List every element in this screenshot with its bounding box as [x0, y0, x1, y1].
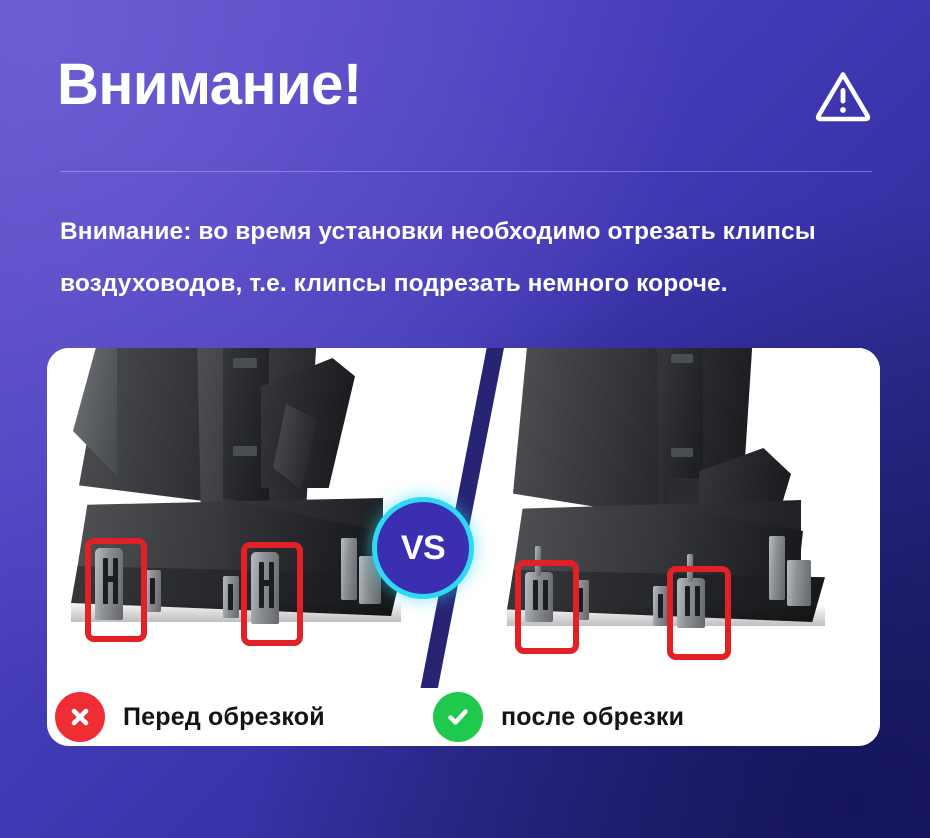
header: Внимание! — [0, 0, 930, 172]
after-photo — [477, 348, 880, 688]
highlight-box — [85, 538, 147, 642]
before-caption: Перед обрезкой — [55, 688, 325, 746]
vs-label: VS — [401, 531, 445, 565]
vs-badge: VS — [377, 502, 469, 594]
warning-paragraph: Внимание: во время установки необходимо … — [60, 206, 880, 310]
before-caption-label: Перед обрезкой — [123, 703, 325, 732]
cross-icon — [55, 692, 105, 742]
after-photo-pane — [477, 348, 880, 688]
warning-triangle-icon — [814, 68, 872, 122]
page-title: Внимание! — [57, 52, 362, 118]
after-caption-label: после обрезки — [501, 703, 684, 732]
highlight-box — [241, 542, 303, 646]
highlight-box — [515, 560, 579, 654]
after-caption: после обрезки — [433, 688, 684, 746]
caption-strip: Перед обрезкой после обрезки — [47, 688, 880, 746]
check-icon — [433, 692, 483, 742]
highlight-box — [667, 566, 731, 660]
attention-poster: Внимание! Внимание: во время установки н… — [0, 0, 930, 838]
header-divider — [60, 171, 872, 172]
